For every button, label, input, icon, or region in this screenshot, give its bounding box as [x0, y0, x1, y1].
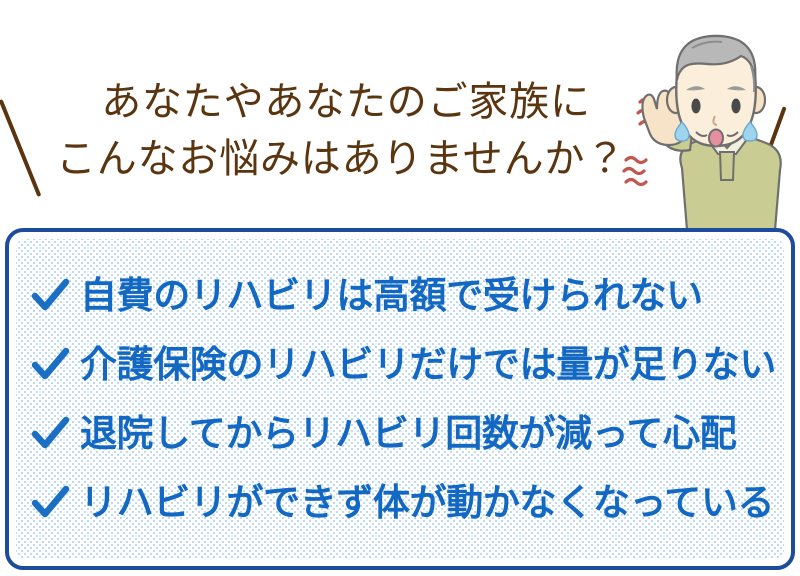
checkmark-icon [30, 483, 70, 523]
list-item-label: 退院してからリハビリ回数が減って心配 [80, 415, 736, 452]
list-item-label: 介護保険のリハビリだけでは量が足りない [80, 346, 776, 383]
eye-left [691, 99, 700, 114]
headline-line-1: あなたやあなたのご家族に [52, 74, 612, 131]
worried-elderly-man-illustration [620, 18, 795, 230]
list-item: 退院してからリハビリ回数が減って心配 [30, 403, 774, 465]
mouth [709, 130, 723, 147]
checkmark-icon [30, 414, 70, 454]
concerns-checklist-panel: 自費のリハビリは高額で受けられない 介護保険のリハビリだけでは量が足りない 退院… [5, 228, 795, 570]
hero-section: あなたやあなたのご家族に こんなお悩みはありませんか？ [0, 0, 800, 228]
list-item: 介護保険のリハビリだけでは量が足りない [30, 334, 774, 396]
list-item-label: リハビリができず体が動かなくなっている [80, 484, 774, 521]
headline-line-2: こんなお悩みはありませんか？ [52, 131, 612, 188]
checkmark-icon [30, 276, 70, 316]
decorative-slash-left-icon [0, 99, 41, 197]
page-headline: あなたやあなたのご家族に こんなお悩みはありませんか？ [52, 74, 612, 188]
list-item: 自費のリハビリは高額で受けられない [30, 265, 774, 327]
list-item-label: 自費のリハビリは高額で受けられない [80, 277, 703, 314]
eye-right [731, 99, 740, 114]
checklist-inner: 自費のリハビリは高額で受けられない 介護保険のリハビリだけでは量が足りない 退院… [16, 239, 784, 559]
list-item: リハビリができず体が動かなくなっている [30, 472, 774, 534]
checkmark-icon [30, 345, 70, 385]
